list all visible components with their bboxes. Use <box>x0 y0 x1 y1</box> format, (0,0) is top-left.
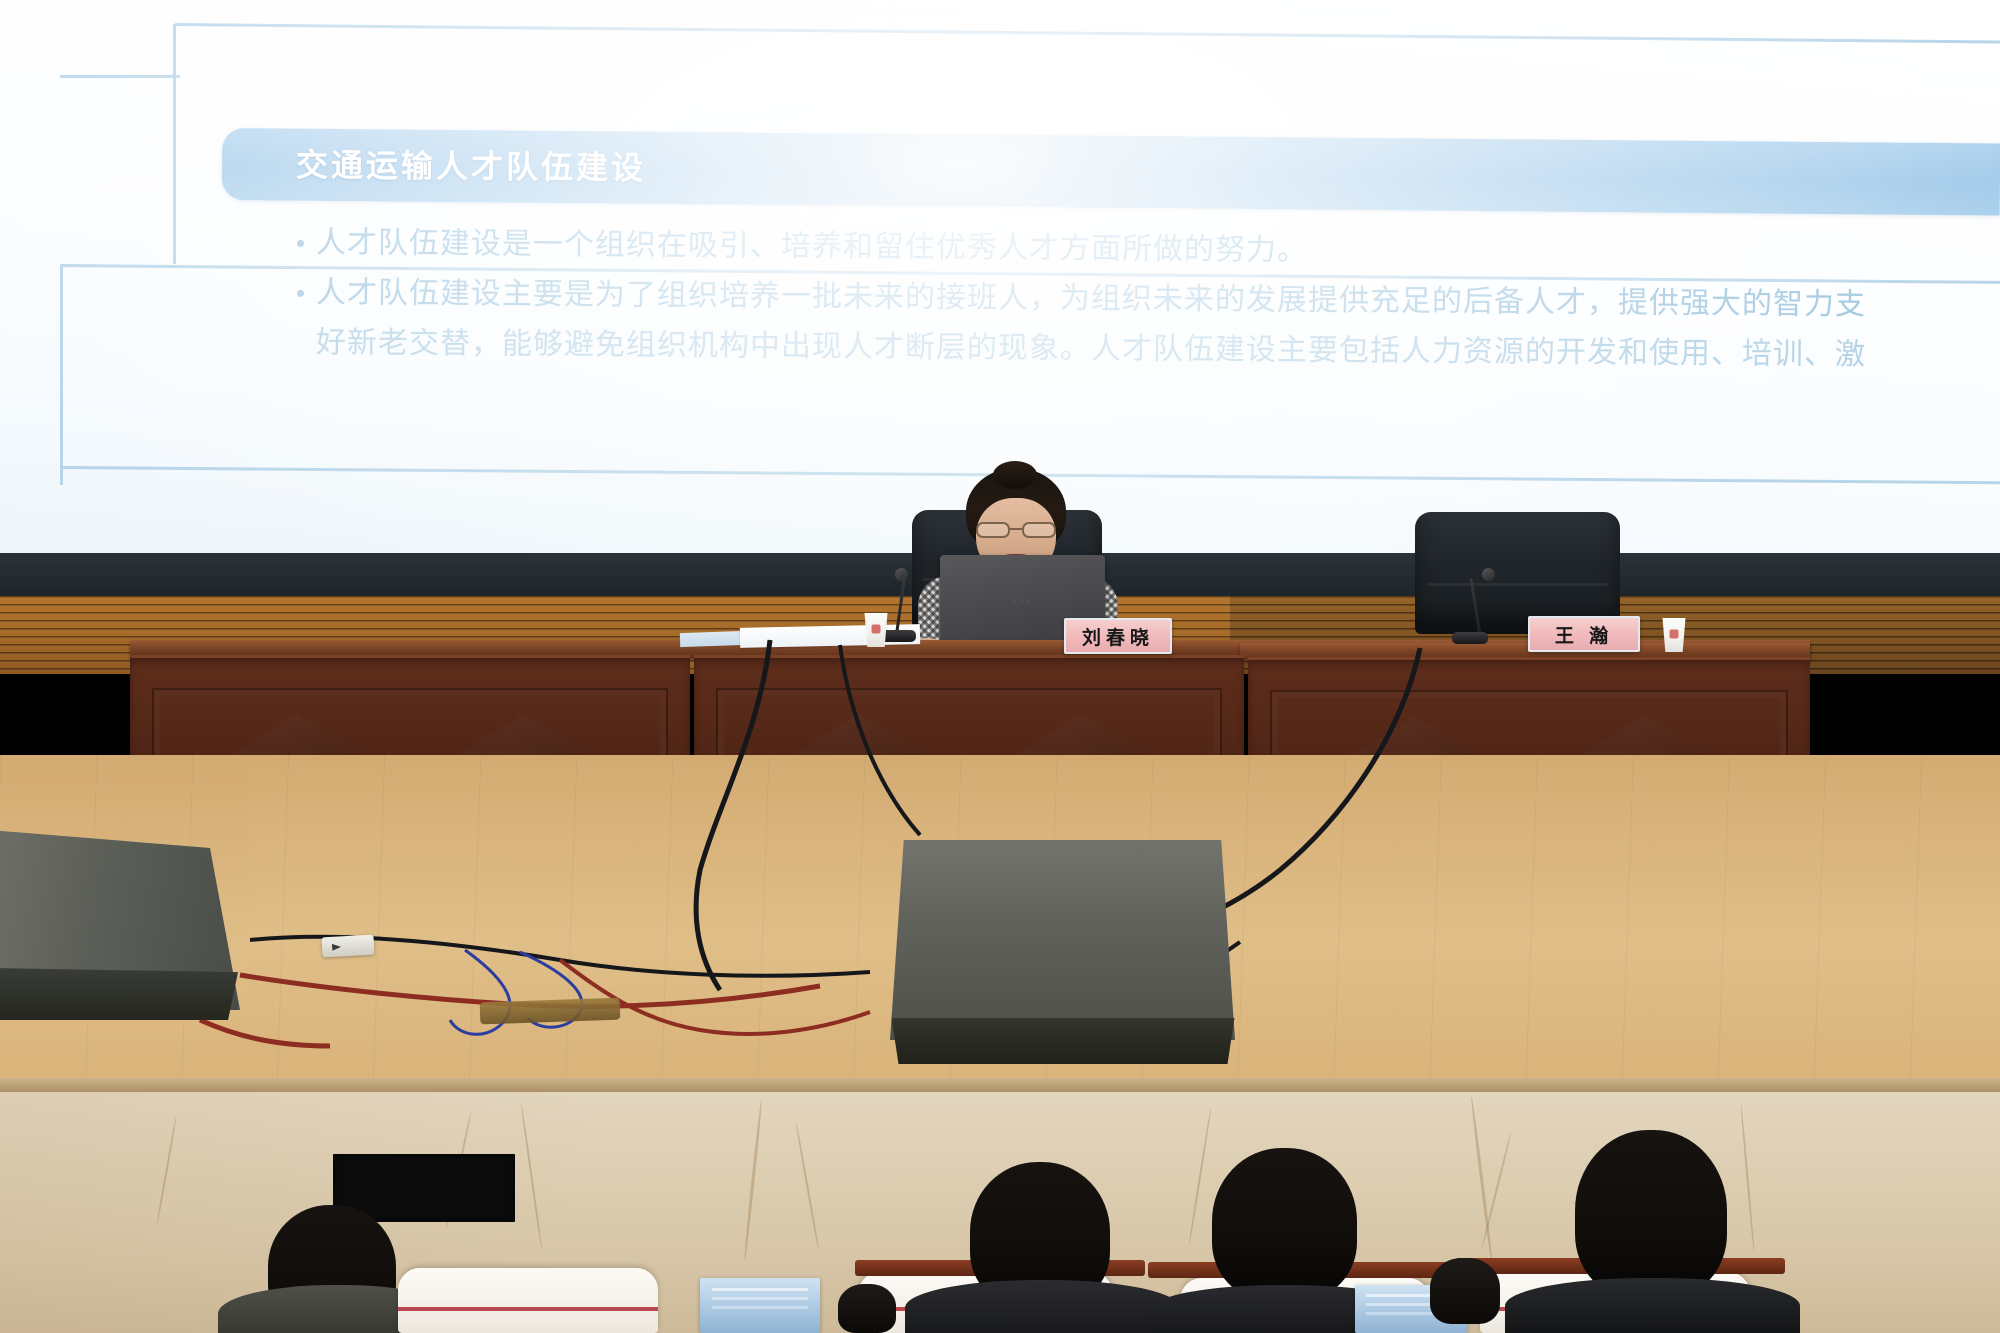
audience-hand-2 <box>1430 1258 1500 1324</box>
microphone-head-right <box>1482 568 1495 581</box>
presenter-hair-bun <box>993 461 1037 489</box>
slide-title: 交通运输人才队伍建设 <box>296 140 1196 194</box>
audience-head-4 <box>1575 1130 1727 1298</box>
bullet-marker: • <box>296 268 316 318</box>
eyeglass-bridge <box>1010 528 1022 530</box>
audience-head-3 <box>1212 1148 1357 1300</box>
slide-frame-line-top-stub <box>60 75 180 78</box>
slide-body: • 人才队伍建设是一个组织在吸引、培养和留住优秀人才方面所做的努力。 • 人才队… <box>296 218 2000 368</box>
bullet-1-line-1: 人才队伍建设是一个组织在吸引、培养和留住优秀人才方面所做的努力。 <box>316 218 1308 276</box>
eyeglass-lens-right <box>1022 522 1056 538</box>
audience-tablet-1[interactable] <box>700 1278 820 1333</box>
bullet-marker: • <box>296 218 316 268</box>
audience-shoulders-4 <box>1505 1278 1800 1333</box>
power-strip <box>322 935 375 958</box>
stage-monitor-center-base <box>888 1018 1238 1064</box>
marble-vein <box>1740 1104 1755 1254</box>
lecture-hall-photo: 交通运输人才队伍建设 • 人才队伍建设是一个组织在吸引、培养和留住优秀人才方面所… <box>0 0 2000 1333</box>
marble-vein <box>1188 1107 1212 1246</box>
audience-seat-1[interactable] <box>398 1268 658 1333</box>
marble-vein <box>156 1117 177 1226</box>
slide-frame-line-left-lower <box>60 265 63 485</box>
microphone-head-left <box>895 568 908 581</box>
marble-vein <box>1481 1132 1512 1249</box>
eyeglasses-icon <box>974 522 1060 538</box>
slide-frame-line-left-upper <box>173 24 176 264</box>
marble-vein <box>1470 1097 1494 1266</box>
marble-vein <box>520 1102 543 1251</box>
slide-frame-line-top <box>175 23 2000 43</box>
cable-red-left <box>200 1020 330 1046</box>
eyeglass-lens-left <box>976 522 1010 538</box>
marble-vein <box>795 1122 820 1250</box>
audience-hand-1 <box>838 1284 896 1333</box>
audience-shoulders-2 <box>905 1280 1180 1333</box>
cable-mic <box>840 645 920 835</box>
cable-red-loop <box>560 960 870 1034</box>
cable-from-desk-center <box>696 640 770 990</box>
stage-monitor-center <box>890 840 1235 1040</box>
marble-vein <box>743 1100 763 1259</box>
stage-monitor-left-base <box>0 968 238 1020</box>
